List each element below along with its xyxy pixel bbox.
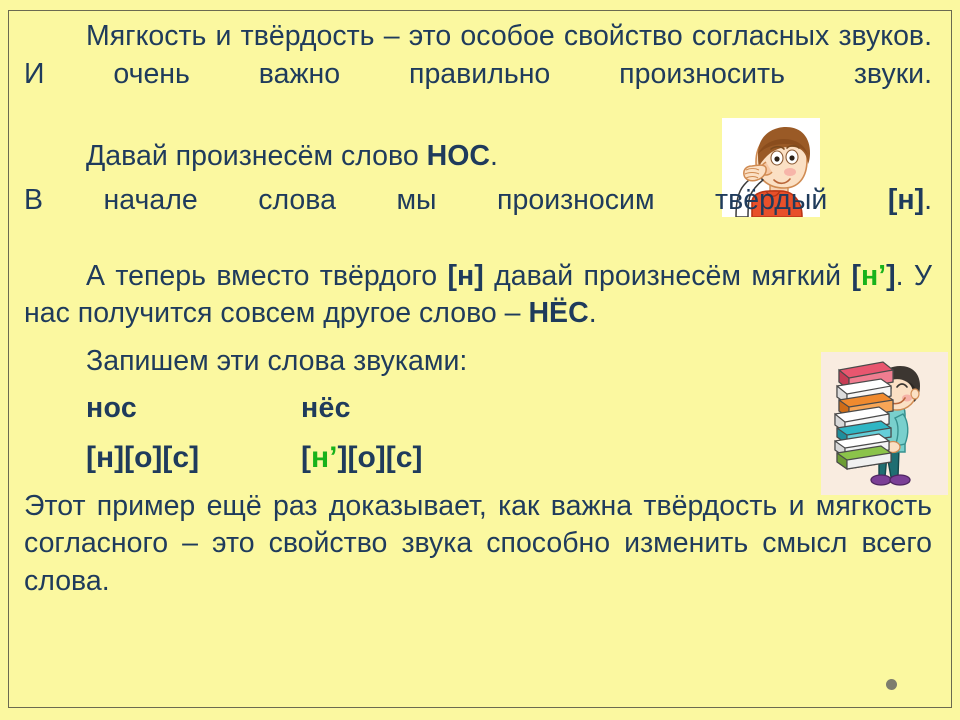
paragraph-write-sounds: Запишем эти слова звуками: (24, 343, 932, 381)
soft-n-mid: давай произнесём мягкий (484, 260, 852, 292)
word-nos-caps: НОС (427, 140, 490, 172)
slide-canvas: Мягкость и твёрдость – это особое свойст… (0, 0, 960, 720)
paragraph-conclusion: Этот пример ещё раз доказывает, как важн… (24, 488, 932, 638)
sound-soft-n-letter: н (861, 260, 878, 292)
paragraph-hard-n: В начале слова мы произносим твёрдый [н]… (24, 182, 932, 257)
transcription-cell-nes: [н’][о][с] (301, 441, 422, 474)
t-hard-open: [ (86, 441, 96, 474)
say-nos-text: Давай произнесём слово (86, 140, 427, 172)
soft-mark-apostrophe: ’ (878, 260, 886, 292)
paragraph-say-nos: Давай произнесём слово НОС. (24, 138, 932, 176)
bracket-close: ] (886, 260, 896, 292)
word-cell-nos: нос (86, 390, 301, 428)
word-cell-nes: нёс (301, 392, 351, 424)
lesson-text-body: Мягкость и твёрдость – это особое свойст… (24, 18, 932, 638)
soft-n-period: . (589, 297, 597, 329)
spacer (24, 478, 932, 488)
words-row: носнёс (24, 390, 932, 428)
spacer (24, 380, 932, 390)
hard-n-text: В начале слова мы произносим твёрдый (24, 184, 888, 216)
say-nos-period: . (490, 140, 498, 172)
sound-hard-n: [н] (888, 184, 924, 216)
paragraph-soft-n: А теперь вместо твёрдого [н] давай произ… (24, 258, 932, 333)
sound-hard-n-2: [н] (448, 260, 484, 292)
transcription-row: [н][о][с][н’][о][с] (24, 438, 932, 478)
spacer (24, 131, 932, 138)
t-soft-n: н (311, 441, 329, 474)
t-hard-n: н (96, 441, 114, 474)
bullet-dot-marker (886, 679, 897, 690)
word-nes-caps: НЁС (528, 297, 588, 329)
bracket-open: [ (851, 260, 861, 292)
transcription-cell-nos: [н][о][с] (86, 438, 301, 478)
t-soft-rest: ][о][с] (337, 441, 422, 474)
t-hard-rest: ][о][с] (114, 441, 199, 474)
t-soft-open: [ (301, 441, 311, 474)
spacer (24, 333, 932, 343)
spacer (24, 175, 932, 182)
paragraph-intro: Мягкость и твёрдость – это особое свойст… (24, 18, 932, 131)
soft-n-lead: А теперь вместо твёрдого (86, 260, 448, 292)
hard-n-period: . (924, 184, 932, 216)
spacer (24, 428, 932, 438)
